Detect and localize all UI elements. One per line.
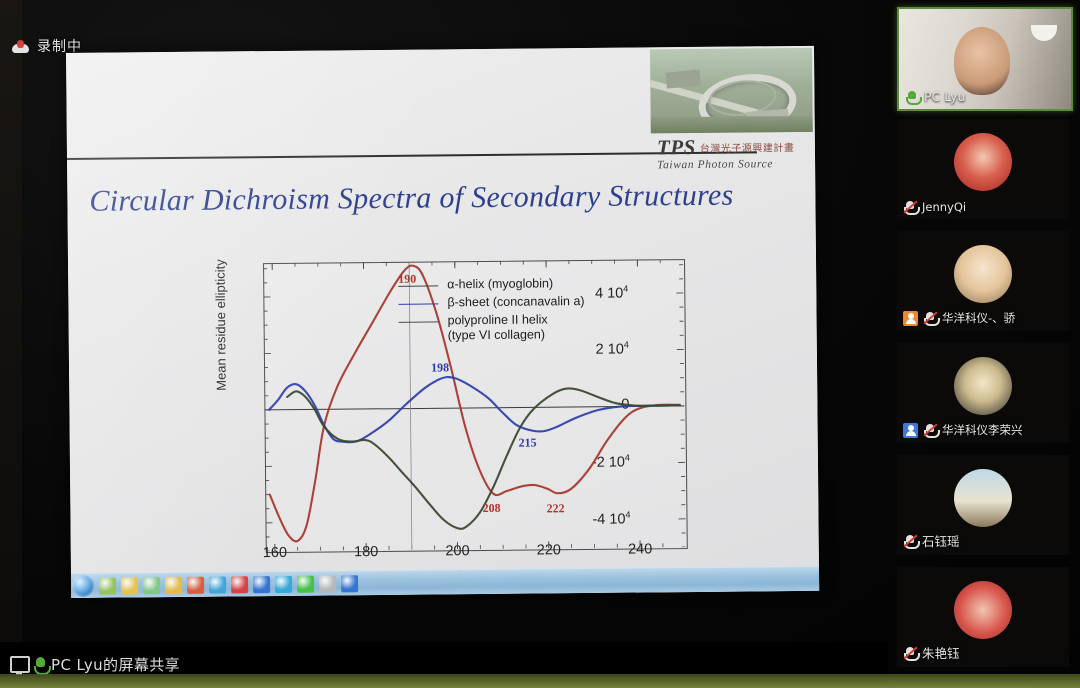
record-cloud-icon [12,40,29,53]
legend-label-beta-sheet: β-sheet (concanavalin a) [447,294,584,310]
user-badge-icon [903,423,918,438]
cd-spectra-chart: Mean residue ellipticity 4 1042 1040-2 1… [198,248,631,552]
start-button-icon[interactable] [72,575,94,597]
tps-english: Taiwan Photon Source [657,158,813,171]
participant-name: JennyQi [922,200,966,214]
participant-name: 朱艳钰 [922,643,960,662]
monitor-icon [10,656,30,673]
chart-annotation: 215 [518,436,536,451]
legend-swatch-polyproline [399,321,439,322]
page-title: Circular Dichroism Spectra of Secondary … [89,178,789,219]
taskbar-app-icon[interactable] [187,576,204,593]
chart-annotations: 190198215208222 [198,248,628,252]
tps-logo: TPS台灣光子源興建計畫 Taiwan Photon Source [650,48,813,182]
tps-chinese: 台灣光子源興建計畫 [700,139,795,155]
participant-tile[interactable]: JennyQi [897,119,1069,219]
user-badge-icon [903,311,918,326]
participant-name-row: 华洋科仪李荣兴 [903,422,1023,438]
avatar [954,245,1012,303]
participant-name-row: PC Lyu [905,89,965,104]
chart-x-ticks: 160180200220240 [198,248,628,252]
taskbar-app-icon[interactable] [143,577,160,594]
participant-face [954,27,1010,95]
chart-y-axis-label: Mean residue ellipticity [212,225,229,425]
legend-swatch-alpha-helix [398,285,438,286]
screen-share-label: PC Lyu的屏幕共享 [51,654,180,675]
participant-tile[interactable]: 石钰瑶 [897,455,1069,555]
lamp-shape [1031,25,1057,41]
tps-abbr: TPS [657,135,696,160]
participant-name-row: 华洋科仪-、骄 [903,310,1015,326]
mic-unmuted-icon[interactable] [905,90,919,104]
screenshot-root: 录制中 TPS台灣光子源興建計畫 Taiwan Photon Source Ci… [0,0,1080,688]
taskbar-app-icon[interactable] [319,575,336,592]
avatar [954,357,1012,415]
legend-item-polyproline: polyproline II helix (type VI collagen) [399,312,614,344]
participant-name: PC Lyu [924,89,965,104]
microphone-icon [34,657,47,673]
slide-canvas: TPS台灣光子源興建計畫 Taiwan Photon Source Circul… [66,46,819,598]
taskbar-app-icon[interactable] [253,576,270,593]
legend-swatch-beta-sheet [398,303,438,304]
legend-label-polyproline-line2: (type VI collagen) [448,327,545,342]
participant-tile[interactable]: 华洋科仪李荣兴 [897,343,1069,443]
chart-annotation: 222 [547,502,565,517]
mic-muted-icon[interactable] [903,646,917,660]
chart-y-ticks: 4 1042 1040-2 104-4 104 [198,248,628,252]
synchrotron-photo-icon [650,48,813,134]
participant-tile[interactable]: PC Lyu [897,7,1073,111]
participant-tile[interactable]: 华洋科仪-、骄 [897,231,1069,331]
participant-name-row: 石钰瑶 [903,531,960,550]
taskbar-app-icon[interactable] [165,576,182,593]
mic-muted-icon[interactable] [923,423,937,437]
tps-logo-text: TPS台灣光子源興建計畫 Taiwan Photon Source [657,134,813,171]
taskbar-app-icon[interactable] [121,577,138,594]
taskbar-app-icon[interactable] [209,576,226,593]
wall-edge [0,0,22,688]
participant-name: 华洋科仪李荣兴 [942,422,1023,438]
participant-tile[interactable]: 朱艳钰 [897,567,1069,667]
avatar [954,133,1012,191]
legend-item-beta-sheet: β-sheet (concanavalin a) [398,294,613,311]
participant-name: 石钰瑶 [922,531,960,550]
legend-label-alpha-helix: α-helix (myoglobin) [447,276,553,292]
mic-muted-icon[interactable] [903,534,917,548]
avatar [954,469,1012,527]
taskbar-app-icon[interactable] [341,575,358,592]
legend-item-alpha-helix: α-helix (myoglobin) [398,276,613,293]
taskbar-app-icon[interactable] [231,576,248,593]
chart-annotation: 208 [483,501,501,516]
avatar [954,581,1012,639]
participant-name-row: JennyQi [903,200,966,214]
taskbar-app-icon[interactable] [99,577,116,594]
taskbar-app-icon[interactable] [297,575,314,592]
participant-name: 华洋科仪-、骄 [942,310,1015,326]
legend-label-polyproline-line1: polyproline II helix [448,312,548,327]
chart-annotation: 198 [431,360,449,375]
participant-name-row: 朱艳钰 [903,643,960,662]
taskbar-icons[interactable] [94,575,358,595]
mic-muted-icon[interactable] [903,200,917,214]
shared-screen[interactable]: TPS台灣光子源興建計畫 Taiwan Photon Source Circul… [66,46,819,598]
mic-muted-icon[interactable] [923,311,937,325]
taskbar-app-icon[interactable] [275,575,292,592]
chart-legend: α-helix (myoglobin) β-sheet (concanavali… [398,276,614,347]
participant-video-sidebar[interactable]: PC LyuJennyQi华洋科仪-、骄华洋科仪李荣兴石钰瑶朱艳钰 [890,0,1080,688]
screen-share-status: PC Lyu的屏幕共享 [10,654,180,675]
